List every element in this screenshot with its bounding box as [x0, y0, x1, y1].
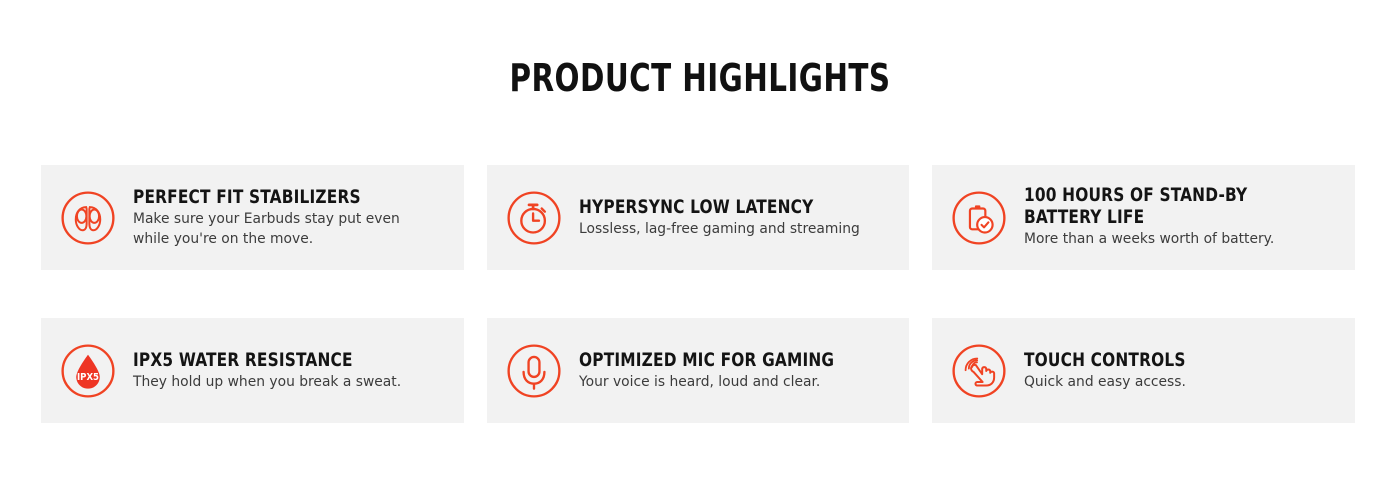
- highlight-card-optimized-mic: OPTIMIZED MIC FOR GAMING Your voice is h…: [487, 318, 910, 423]
- highlight-card-text: TOUCH CONTROLS Quick and easy access.: [1024, 349, 1341, 392]
- highlight-card-touch-controls: TOUCH CONTROLS Quick and easy access.: [932, 318, 1355, 423]
- highlight-card-title: TOUCH CONTROLS: [1024, 349, 1309, 371]
- highlight-card-title: HYPERSYNC LOW LATENCY: [579, 196, 864, 218]
- highlight-card-text: PERFECT FIT STABILIZERS Make sure your E…: [133, 186, 450, 249]
- highlight-card-description: Lossless, lag-free gaming and streaming: [579, 220, 881, 239]
- water-drop-ipx5-icon: IPX5: [59, 342, 117, 400]
- highlight-card-battery-life: 100 HOURS OF STAND-BY BATTERY LIFE More …: [932, 165, 1355, 270]
- highlight-card-text: OPTIMIZED MIC FOR GAMING Your voice is h…: [579, 349, 896, 392]
- water-drop-icon-label: IPX5: [77, 372, 99, 383]
- highlight-card-title: 100 HOURS OF STAND-BY BATTERY LIFE: [1024, 185, 1309, 228]
- touch-hand-icon: [950, 342, 1008, 400]
- highlight-card-description: Make sure your Earbuds stay put even whi…: [133, 210, 435, 249]
- highlight-card-description: Quick and easy access.: [1024, 373, 1326, 392]
- stopwatch-icon: [505, 189, 563, 247]
- highlight-card-text: HYPERSYNC LOW LATENCY Lossless, lag-free…: [579, 196, 896, 239]
- highlight-card-description: More than a weeks worth of battery.: [1024, 230, 1326, 249]
- earbuds-icon: [59, 189, 117, 247]
- product-highlights-section: PRODUCT HIGHLIGHTS PERFECT FIT STABILIZE…: [0, 0, 1400, 492]
- highlight-card-description: They hold up when you break a sweat.: [133, 373, 435, 392]
- highlight-card-text: 100 HOURS OF STAND-BY BATTERY LIFE More …: [1024, 185, 1341, 250]
- highlight-card-hypersync-low-latency: HYPERSYNC LOW LATENCY Lossless, lag-free…: [487, 165, 910, 270]
- battery-check-icon: [950, 189, 1008, 247]
- highlights-grid: PERFECT FIT STABILIZERS Make sure your E…: [41, 165, 1355, 423]
- highlight-card-title: OPTIMIZED MIC FOR GAMING: [579, 349, 864, 371]
- highlight-card-water-resistance: IPX5 IPX5 WATER RESISTANCE They hold up …: [41, 318, 464, 423]
- highlight-card-title: IPX5 WATER RESISTANCE: [133, 349, 418, 371]
- highlight-card-description: Your voice is heard, loud and clear.: [579, 373, 881, 392]
- page-title: PRODUCT HIGHLIGHTS: [98, 56, 1302, 100]
- highlight-card-title: PERFECT FIT STABILIZERS: [133, 186, 418, 208]
- highlight-card-perfect-fit-stabilizers: PERFECT FIT STABILIZERS Make sure your E…: [41, 165, 464, 270]
- highlight-card-text: IPX5 WATER RESISTANCE They hold up when …: [133, 349, 450, 392]
- microphone-icon: [505, 342, 563, 400]
